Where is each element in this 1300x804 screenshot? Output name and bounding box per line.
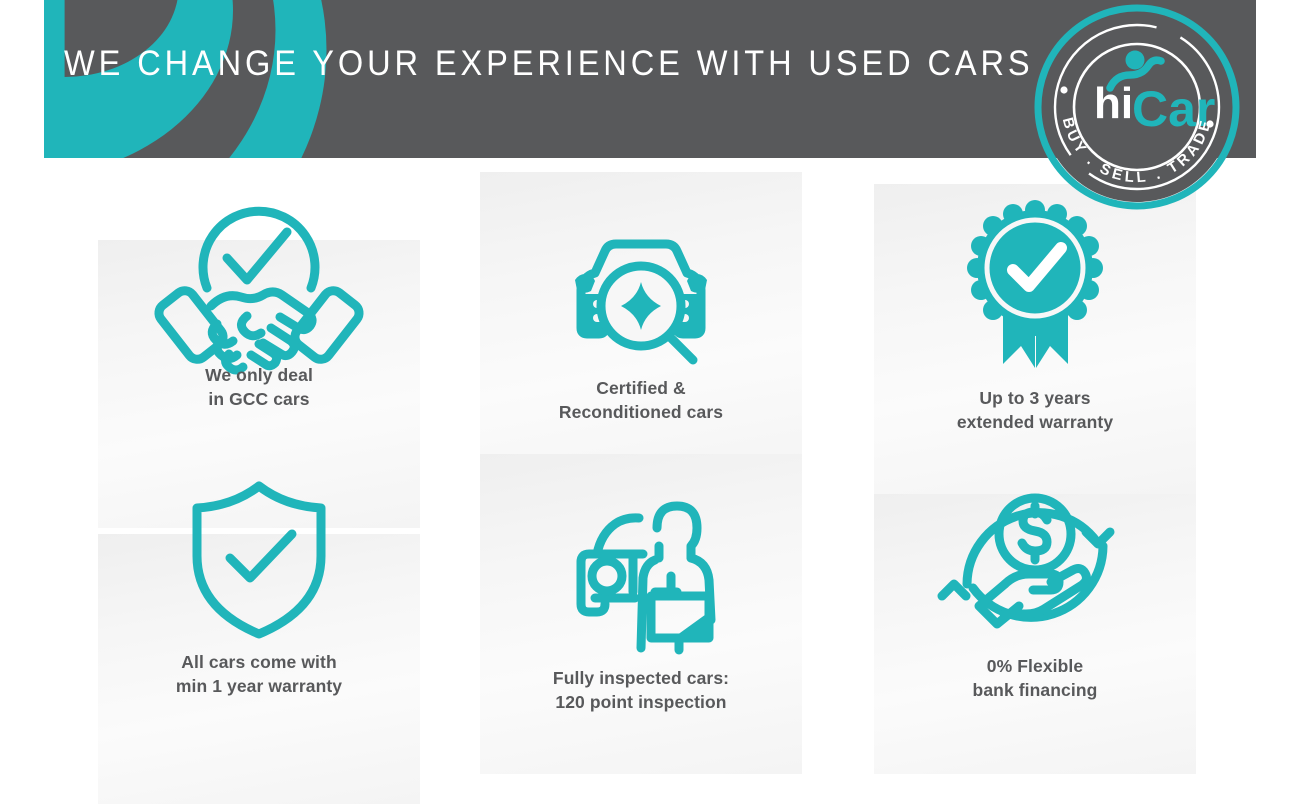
caption-line-2: min 1 year warranty [98,674,420,698]
caption-line-1: Up to 3 years [874,386,1196,410]
caption-line-1: Fully inspected cars: [480,666,802,690]
caption-line-1: 0% Flexible [874,654,1196,678]
caption-line-2: 120 point inspection [480,690,802,714]
feature-caption-gcc-cars: We only deal in GCC cars [98,363,420,411]
caption-line-2: extended warranty [874,410,1196,434]
feature-caption-inspection: Fully inspected cars: 120 point inspecti… [480,666,802,714]
page-title: WE CHANGE YOUR EXPERIENCE WITH USED CARS [64,46,1034,81]
feature-caption-certified-reconditioned: Certified & Reconditioned cars [480,376,802,424]
caption-line-1: Certified & [480,376,802,400]
caption-line-1: We only deal [98,363,420,387]
hicar-logo[interactable]: hi Car BUY . SELL . TRADE [1032,2,1242,212]
feature-card-bank-financing[interactable] [874,494,1196,774]
caption-line-2: Reconditioned cars [480,400,802,424]
feature-card-inspection[interactable] [480,454,802,774]
feature-card-extended-warranty[interactable] [874,184,1196,494]
feature-caption-min-warranty: All cars come with min 1 year warranty [98,650,420,698]
logo-dot-left [1060,86,1067,93]
feature-card-certified-reconditioned[interactable] [480,172,802,482]
caption-line-1: All cars come with [98,650,420,674]
feature-caption-bank-financing: 0% Flexible bank financing [874,654,1196,702]
feature-caption-extended-warranty: Up to 3 years extended warranty [874,386,1196,434]
caption-line-2: bank financing [874,678,1196,702]
logo-name-primary: hi [1094,79,1133,128]
caption-line-2: in GCC cars [98,387,420,411]
feature-grid: We only deal in GCC cars [0,158,1300,760]
